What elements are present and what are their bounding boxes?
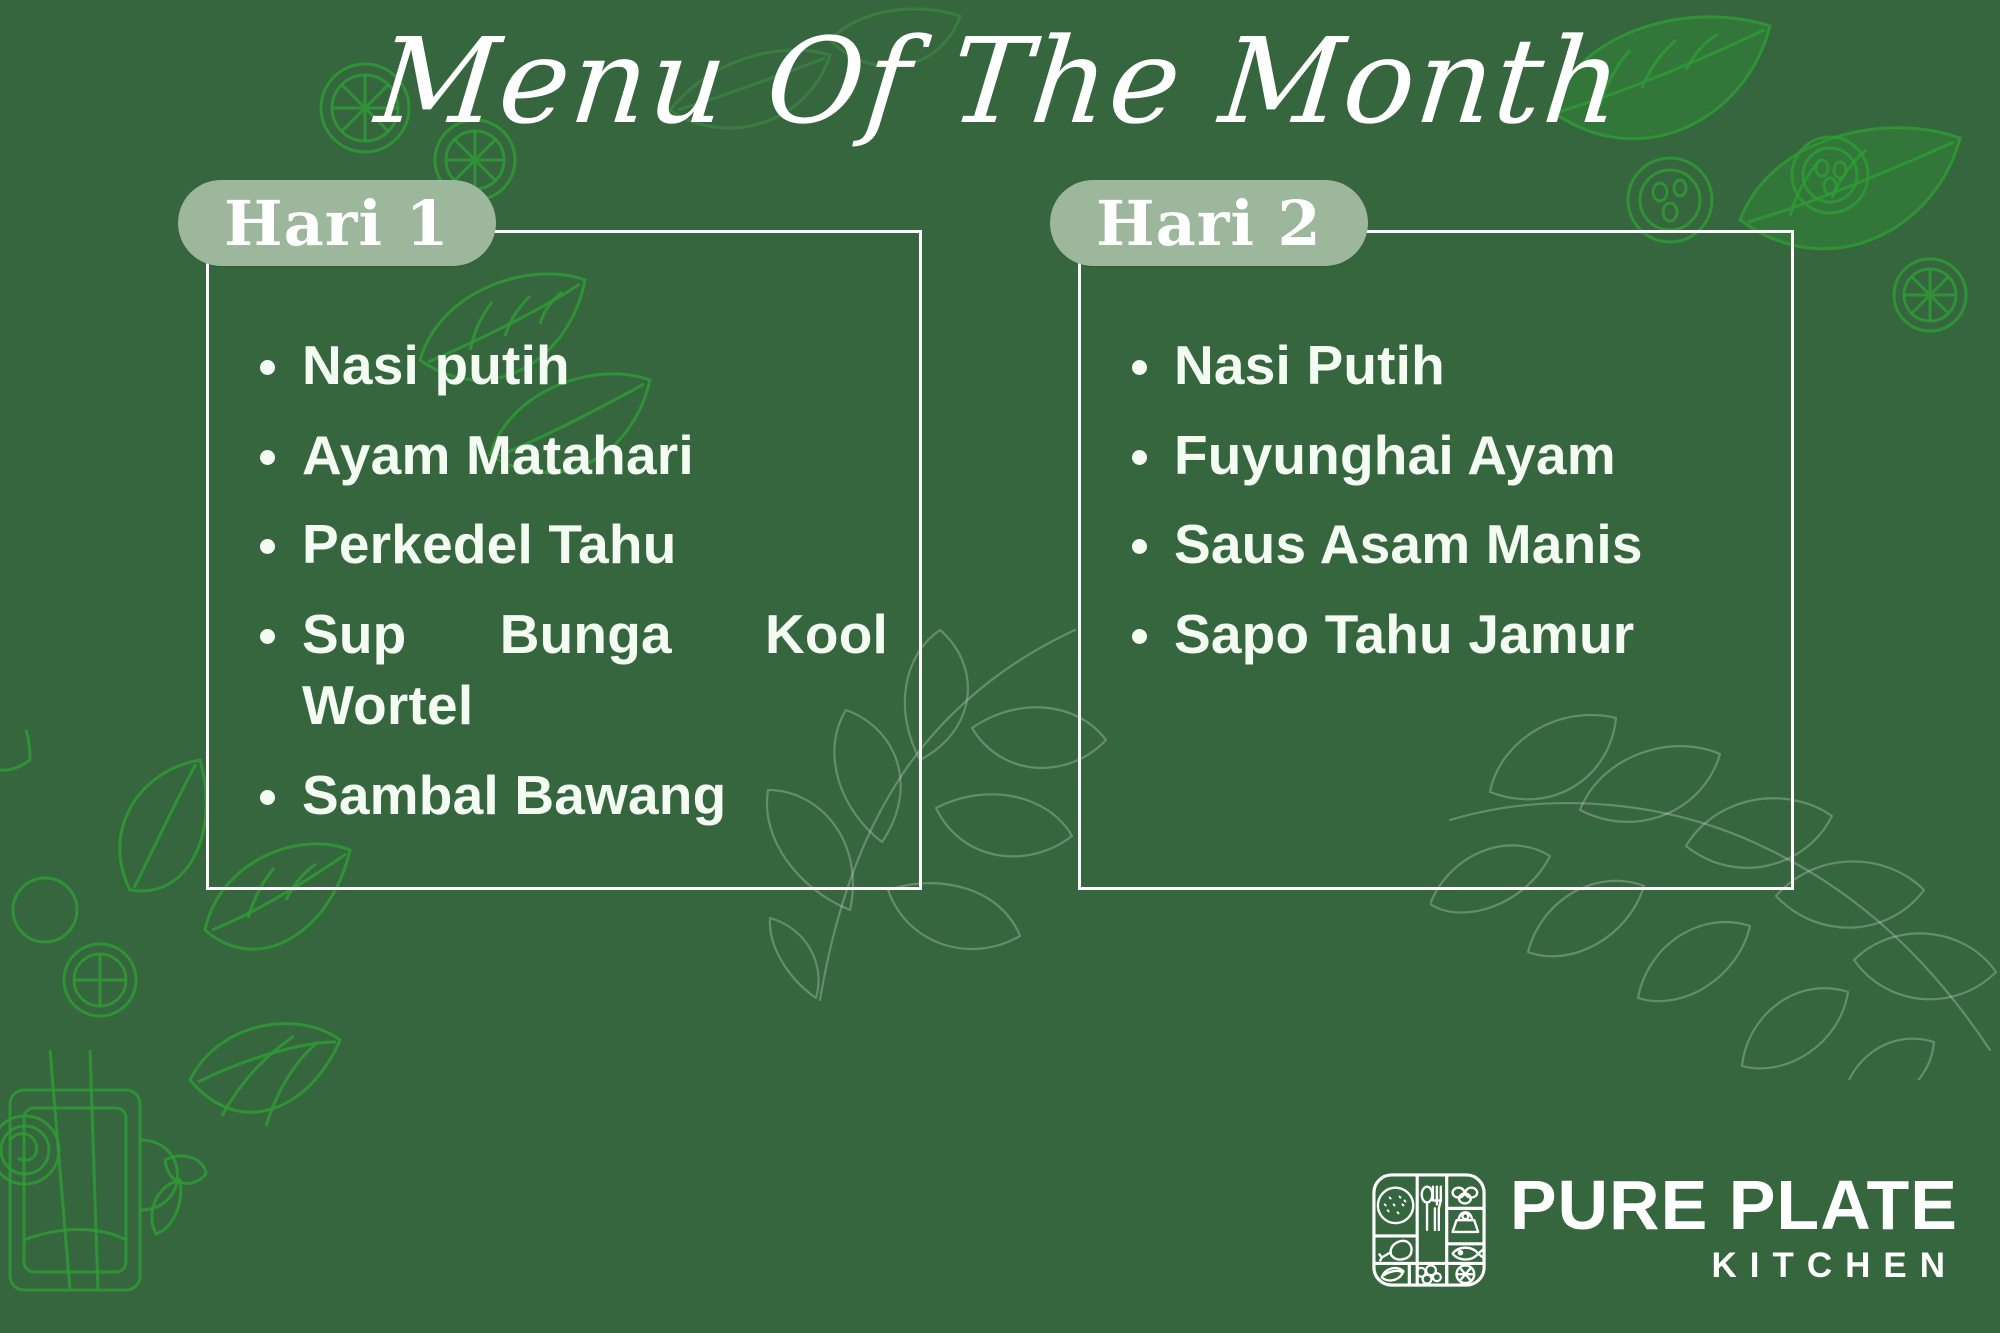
day-badge-1: Hari 1	[178, 180, 496, 266]
day-badge-2: Hari 2	[1050, 180, 1368, 266]
salad-bowl-icon	[1452, 1212, 1478, 1232]
day-column-1: Hari 1 Nasi putih Ayam Matahari Perkedel…	[206, 230, 922, 890]
bento-plate-icon	[1370, 1171, 1488, 1289]
page-title: Menu Of The Month	[0, 14, 2000, 150]
rice-bowl-icon	[1378, 1188, 1413, 1223]
brand-wordmark: PURE PLATE KITCHEN	[1510, 1172, 1958, 1288]
dish-item: Fuyunghai Ayam	[1174, 420, 1760, 492]
dish-list-1: Nasi putih Ayam Matahari Perkedel Tahu S…	[206, 330, 922, 849]
fish-icon	[1452, 1248, 1483, 1260]
dish-list-2: Nasi Putih Fuyunghai Ayam Saus Asam Mani…	[1078, 330, 1794, 688]
chicken-leg-icon	[1379, 1241, 1412, 1262]
dish-item: Nasi Putih	[1174, 330, 1760, 402]
dish-item: Ayam Matahari	[302, 420, 888, 492]
brand-name: PURE PLATE	[1510, 1172, 1958, 1239]
eggs-icon	[1452, 1188, 1477, 1204]
pitcher-decor-bottomleft	[0, 1050, 260, 1330]
brand-tagline: KITCHEN	[1510, 1238, 1958, 1288]
broccoli-icon	[1417, 1265, 1441, 1283]
dish-item: Sambal Bawang	[302, 760, 888, 832]
dish-item: Perkedel Tahu	[302, 509, 888, 581]
lettuce-icon	[1382, 1268, 1404, 1281]
watermelon-slice-icon	[1456, 1265, 1474, 1283]
dish-item: Sup Bunga Kool Wortel	[302, 599, 888, 742]
dish-item: Saus Asam Manis	[1174, 509, 1760, 581]
day-columns: Hari 1 Nasi putih Ayam Matahari Perkedel…	[0, 230, 2000, 910]
dish-item: Nasi putih	[302, 330, 888, 402]
menu-poster: Menu Of The Month Hari 1 Nasi putih Ayam…	[0, 0, 2000, 1333]
brand-logo: PURE PLATE KITCHEN	[1370, 1171, 1958, 1289]
day-column-2: Hari 2 Nasi Putih Fuyunghai Ayam Saus As…	[1078, 230, 1794, 890]
dish-item: Sapo Tahu Jamur	[1174, 599, 1760, 671]
spoon-fork-icon	[1422, 1187, 1441, 1230]
